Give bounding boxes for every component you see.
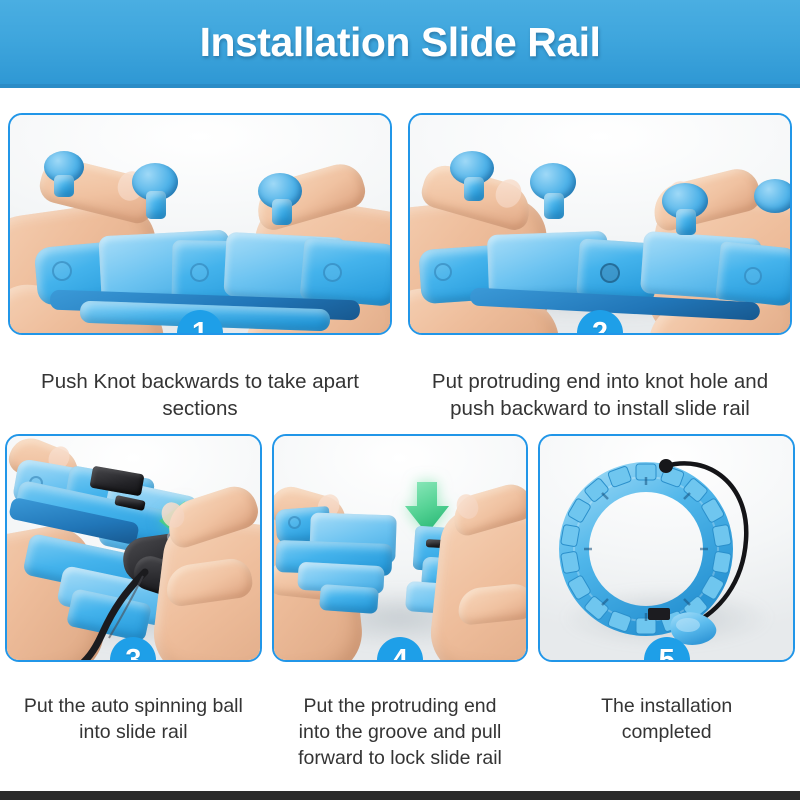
steps-row-bottom: 3 Put the auto spinning ball into slide … (0, 422, 800, 771)
caption-line: into the groove and pull (276, 719, 525, 745)
step-photo-panel-1: 1 (8, 113, 392, 335)
caption-line: Put protruding end into knot hole and (412, 368, 788, 395)
step-card-3: 3 Put the auto spinning ball into slide … (5, 434, 262, 771)
step-caption-1: Push Knot backwards to take apart sectio… (8, 368, 392, 422)
caption-line: into slide rail (9, 719, 258, 745)
step-caption-2: Put protruding end into knot hole and pu… (408, 368, 792, 422)
header-banner: Installation Slide Rail (0, 0, 800, 88)
photo-completed-hoop (540, 436, 793, 660)
step-photo-panel-3: 3 (5, 434, 262, 662)
caption-line: completed (542, 719, 791, 745)
page-title: Installation Slide Rail (200, 19, 601, 66)
photo-hands-joining-segments (410, 115, 790, 333)
caption-line: push backward to install slide rail (412, 395, 788, 422)
photo-hands-holding-hoop-segment (10, 115, 390, 333)
step-caption-3: Put the auto spinning ball into slide ra… (5, 693, 262, 745)
step-card-1: 1 Push Knot backwards to take apart sect… (8, 113, 392, 422)
caption-line: Push Knot backwards to take apart (12, 368, 388, 395)
photo-align-sections-groove (274, 436, 527, 660)
step-card-2: 2 Put protruding end into knot hole and … (408, 113, 792, 422)
caption-line: forward to lock slide rail (276, 745, 525, 771)
step-card-4: 4 Put the protruding end into the groove… (272, 434, 529, 771)
completed-hoop-graphic (540, 436, 793, 660)
caption-line: The installation (542, 693, 791, 719)
step-photo-panel-5: 5 (538, 434, 795, 662)
photo-insert-spinning-ball (7, 436, 260, 660)
step-photo-panel-4: 4 (272, 434, 529, 662)
step-caption-4: Put the protruding end into the groove a… (272, 693, 529, 771)
steps-row-top: 1 Push Knot backwards to take apart sect… (0, 88, 800, 422)
step-card-5: 5 The installation completed (538, 434, 795, 771)
step-photo-panel-2: 2 (408, 113, 792, 335)
caption-line: Put the auto spinning ball (9, 693, 258, 719)
footer-bar (0, 791, 800, 800)
step-caption-5: The installation completed (538, 693, 795, 745)
caption-line: sections (12, 395, 388, 422)
caption-line: Put the protruding end (276, 693, 525, 719)
